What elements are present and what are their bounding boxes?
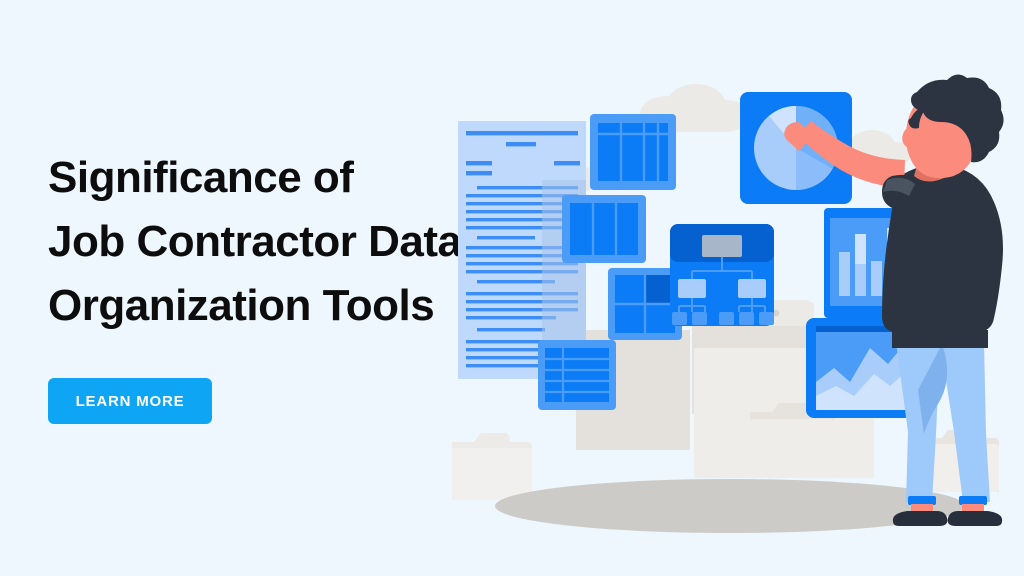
person-cuff	[908, 496, 936, 505]
person-ankle	[911, 504, 933, 512]
org-node-mid	[738, 279, 766, 298]
person-hip-band	[892, 330, 988, 348]
person-shoe-right	[948, 511, 1002, 526]
person-shoe-left	[893, 511, 947, 526]
table-card-bottom	[538, 340, 616, 410]
hero-banner: Significance of Job Contractor Data Orga…	[0, 0, 1024, 576]
person-ankle	[962, 504, 984, 512]
data-organization-illustration	[430, 30, 1024, 546]
table-card-middle	[562, 195, 646, 263]
person-cuff	[959, 496, 987, 505]
floor-shadow-ellipse	[495, 479, 965, 533]
org-node-mid	[678, 279, 706, 298]
learn-more-button[interactable]: LEARN MORE	[48, 378, 212, 424]
hierarchy-card	[670, 224, 774, 326]
folder-icon	[452, 433, 532, 500]
org-node-root	[702, 235, 742, 257]
table-card-top	[590, 114, 676, 190]
